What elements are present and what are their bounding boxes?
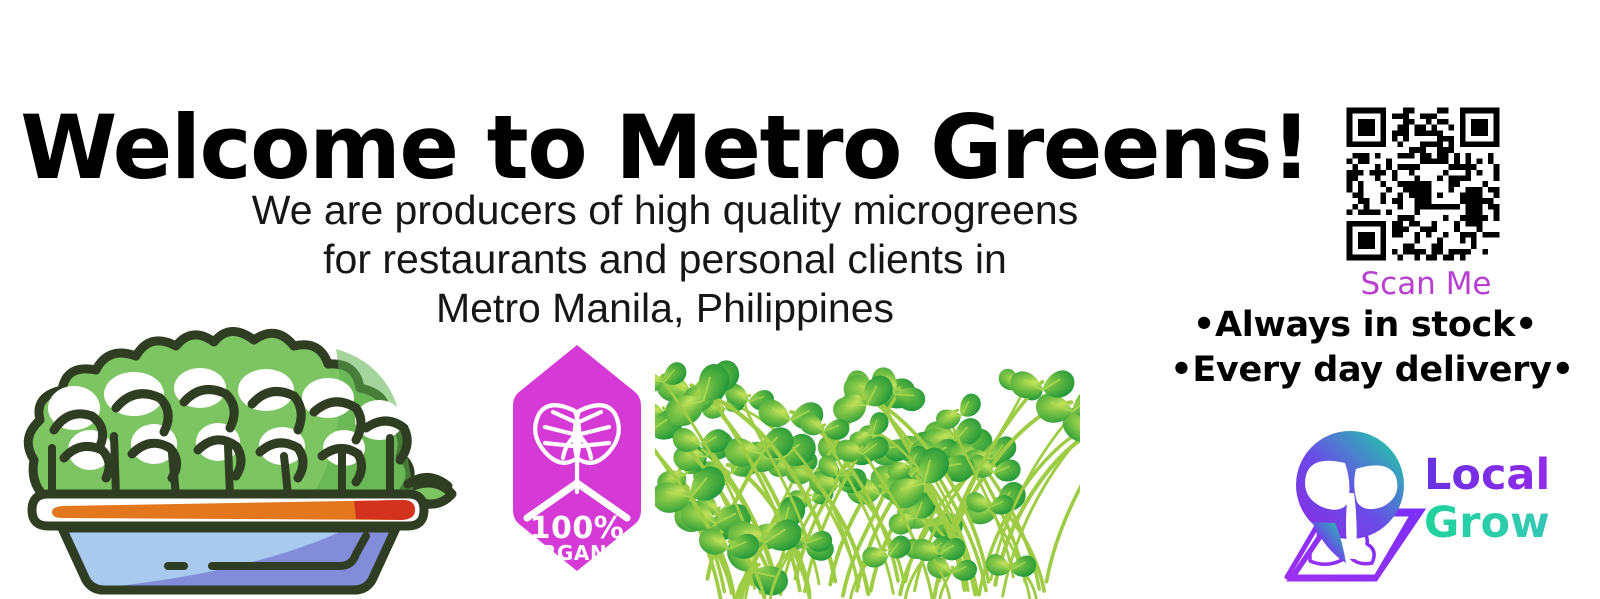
logo-line-1: Locally bbox=[1424, 450, 1548, 500]
page-title: Welcome to Metro Greens! bbox=[0, 104, 1330, 192]
logo-line-2: Grown bbox=[1424, 498, 1548, 548]
qr-code-card[interactable] bbox=[1341, 102, 1505, 266]
microgreens-tray-icon bbox=[4, 298, 474, 599]
sprout-group bbox=[655, 355, 1080, 599]
subtitle-line-1: We are producers of high quality microgr… bbox=[0, 186, 1330, 235]
selling-point-every-day-delivery: •Every day delivery• bbox=[1144, 348, 1600, 393]
organic-badge: 100% ORGANIC bbox=[511, 342, 643, 574]
tray-band-end bbox=[354, 500, 415, 520]
leaf-shape bbox=[1010, 370, 1075, 399]
badge-organic-label: ORGANIC bbox=[523, 541, 630, 565]
qr-code-icon[interactable] bbox=[1341, 102, 1505, 266]
leaf-stem bbox=[1346, 493, 1357, 559]
selling-point-always-in-stock: •Always in stock• bbox=[1130, 303, 1600, 348]
scan-me-label: Scan Me bbox=[1341, 267, 1511, 301]
sprout-leaf-pair bbox=[1010, 370, 1075, 399]
locally-grown-logo: Locally Grown bbox=[1238, 411, 1548, 599]
qr-code-block[interactable]: Scan Me bbox=[1341, 102, 1511, 301]
organic-badge-icon: 100% ORGANIC bbox=[511, 342, 643, 574]
subtitle-line-2: for restaurants and personal clients in bbox=[0, 235, 1330, 284]
locally-grown-logo-icon: Locally Grown bbox=[1238, 411, 1548, 599]
microgreens-tray-illustration bbox=[4, 298, 474, 599]
microgreens-cluster-icon bbox=[655, 352, 1080, 599]
metro-greens-banner: Welcome to Metro Greens! We are producer… bbox=[0, 0, 1600, 599]
selling-points-block: •Always in stock• •Every day delivery• bbox=[1130, 303, 1600, 393]
microgreens-cluster-illustration bbox=[655, 352, 1080, 599]
